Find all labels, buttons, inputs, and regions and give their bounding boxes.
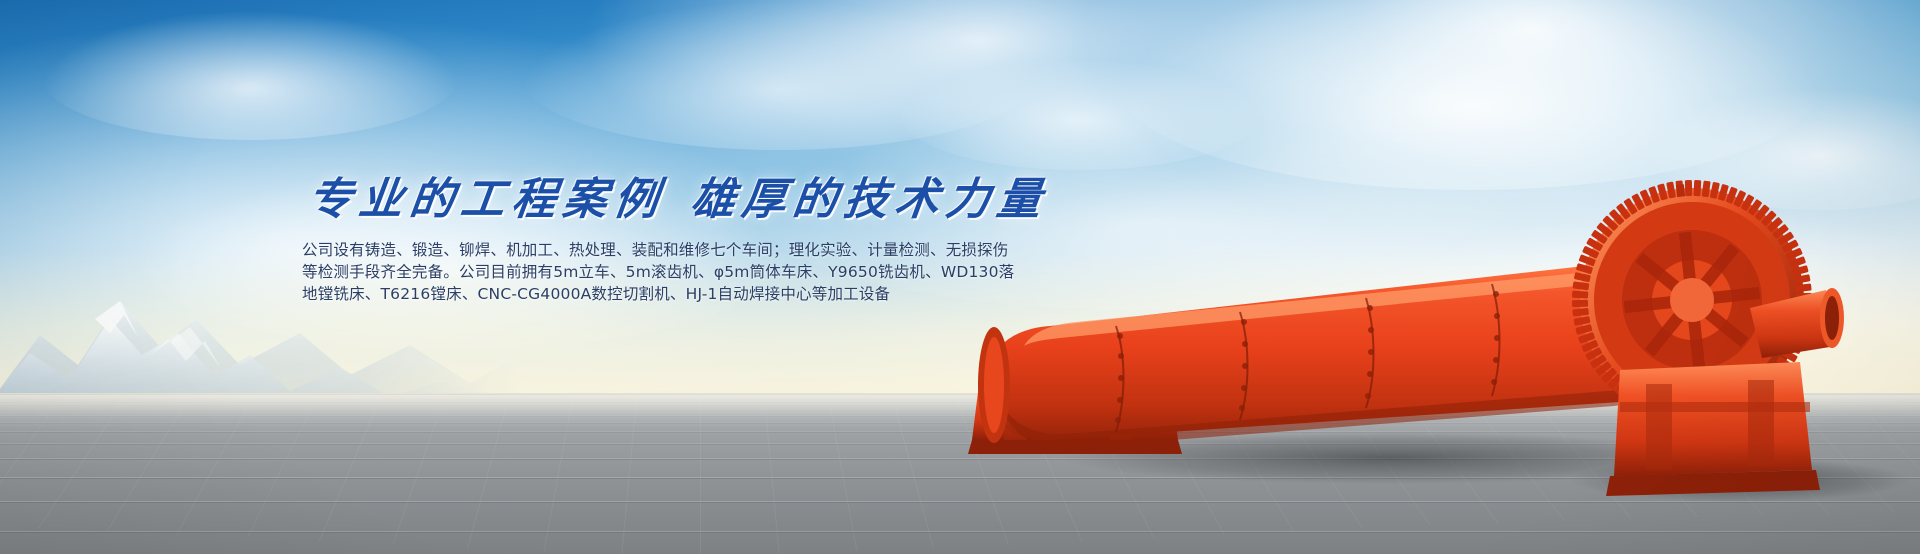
- description-line: 公司设有铸造、锻造、铆焊、机加工、热处理、装配和维修七个车间；理化实验、计量检测…: [302, 239, 1240, 261]
- banner-copy: 专业的工程案例雄厚的技术力量 公司设有铸造、锻造、铆焊、机加工、热处理、装配和维…: [300, 178, 1240, 305]
- banner-description: 公司设有铸造、锻造、铆焊、机加工、热处理、装配和维修七个车间；理化实验、计量检测…: [302, 239, 1240, 305]
- headline-part-1: 专业的工程案例: [305, 175, 668, 224]
- machine-right-base: [1606, 362, 1820, 496]
- banner-headline: 专业的工程案例雄厚的技术力量: [305, 178, 1242, 222]
- description-line: 等检测手段齐全完备。公司目前拥有5m立车、5m滚齿机、φ5m筒体车床、Y9650…: [302, 261, 1240, 283]
- headline-part-2: 雄厚的技术力量: [688, 175, 1051, 224]
- hero-banner: // vertical converging lines drawn by JS…: [0, 0, 1920, 554]
- description-line: 地镗铣床、T6216镗床、CNC-CG4000A数控切割机、HJ-1自动焊接中心…: [302, 283, 1240, 305]
